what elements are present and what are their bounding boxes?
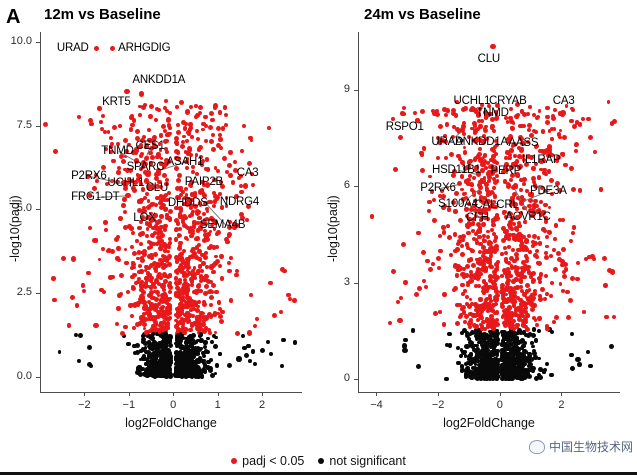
data-point-significant: [191, 232, 195, 236]
data-point-significant: [545, 292, 549, 296]
data-point-significant: [101, 114, 105, 118]
data-point-significant: [119, 273, 124, 278]
data-point-not-significant: [511, 350, 515, 354]
data-point-significant: [210, 118, 214, 122]
data-point-significant: [142, 312, 146, 316]
data-point-significant: [417, 286, 422, 291]
data-point-significant: [551, 116, 556, 121]
data-point-significant: [229, 256, 233, 260]
data-point-significant: [267, 126, 272, 131]
data-point-significant: [136, 257, 140, 261]
gene-label: IL1RAP: [522, 154, 560, 166]
data-point-significant: [255, 317, 259, 321]
data-point-significant: [218, 137, 223, 142]
data-point-significant: [182, 288, 186, 292]
data-point-significant: [193, 266, 197, 270]
data-point-significant: [142, 322, 147, 327]
data-point-significant: [535, 249, 539, 253]
data-point-labeled: [139, 91, 144, 96]
gene-label: PAIP2B: [185, 176, 223, 188]
data-point-labeled: [560, 110, 565, 115]
data-point-significant: [146, 271, 150, 275]
data-point-not-significant: [507, 331, 512, 336]
data-point-not-significant: [542, 371, 546, 375]
data-point-significant: [240, 149, 244, 153]
data-point-not-significant: [78, 333, 83, 338]
data-point-significant: [165, 213, 169, 217]
data-point-significant: [494, 152, 499, 157]
data-point-significant: [476, 318, 480, 322]
data-point-not-significant: [459, 354, 463, 358]
data-point-significant: [185, 139, 190, 144]
data-point-significant: [141, 290, 146, 295]
data-point-significant: [211, 133, 215, 137]
data-point-significant: [572, 225, 576, 229]
data-point-significant: [138, 113, 142, 117]
data-point-labeled: [473, 128, 478, 133]
data-point-significant: [81, 283, 85, 287]
data-point-significant: [397, 318, 402, 323]
data-point-significant: [538, 109, 542, 113]
data-point-not-significant: [269, 352, 273, 356]
data-point-significant: [442, 230, 447, 235]
data-point-significant: [213, 103, 218, 108]
data-point-not-significant: [491, 377, 495, 381]
data-point-significant: [120, 331, 125, 336]
data-point-significant: [455, 321, 460, 326]
data-point-significant: [446, 224, 450, 228]
data-point-labeled: [243, 183, 248, 188]
y-tick-label: 7.5: [0, 119, 32, 131]
data-point-significant: [103, 220, 108, 225]
data-point-significant: [154, 176, 159, 181]
data-point-not-significant: [485, 357, 489, 361]
data-point-significant: [438, 234, 442, 238]
data-point-not-significant: [478, 337, 482, 341]
data-point-significant: [94, 238, 99, 243]
data-point-significant: [388, 321, 392, 325]
data-point-significant: [168, 237, 172, 241]
data-point-significant: [123, 210, 127, 214]
data-point-significant: [221, 126, 225, 130]
data-point-significant: [188, 313, 193, 318]
data-point-significant: [231, 180, 236, 185]
data-point-significant: [458, 157, 462, 161]
data-point-significant: [176, 130, 181, 135]
data-point-significant: [574, 143, 578, 147]
data-point-significant: [562, 135, 567, 140]
data-point-significant: [537, 316, 541, 320]
data-point-significant: [233, 160, 237, 164]
data-point-significant: [458, 266, 462, 270]
data-point-not-significant: [214, 372, 217, 375]
data-point-significant: [141, 105, 146, 110]
data-point-not-significant: [416, 364, 421, 369]
data-point-significant: [474, 324, 479, 329]
data-point-significant: [414, 292, 419, 297]
data-point-significant: [453, 232, 457, 236]
data-point-significant: [122, 197, 127, 202]
data-point-significant: [186, 238, 190, 242]
data-point-significant: [61, 256, 66, 261]
data-point-significant: [104, 228, 108, 232]
data-point-significant: [163, 224, 167, 228]
data-point-not-significant: [575, 357, 580, 362]
data-point-significant: [491, 218, 495, 222]
data-point-significant: [77, 115, 81, 119]
data-point-not-significant: [495, 369, 500, 374]
data-point-significant: [224, 113, 229, 118]
data-point-significant: [493, 322, 497, 326]
data-point-significant: [191, 170, 195, 174]
data-point-significant: [154, 203, 158, 207]
data-point-significant: [132, 251, 137, 256]
data-point-significant: [444, 113, 448, 117]
data-point-labeled: [125, 193, 130, 198]
data-point-significant: [175, 259, 180, 264]
data-point-significant: [118, 124, 122, 128]
data-point-significant: [466, 226, 470, 230]
data-point-significant: [539, 272, 543, 276]
data-point-significant: [223, 105, 228, 110]
x-tick: [376, 392, 377, 396]
data-point-significant: [432, 198, 436, 202]
gene-label: DHDDS: [168, 197, 208, 209]
x-tick: [173, 392, 174, 396]
data-point-not-significant: [402, 348, 407, 353]
data-point-significant: [520, 289, 524, 293]
gene-label: LOX: [133, 212, 155, 224]
y-tick-label: 10.0: [0, 35, 32, 47]
data-point-not-significant: [490, 350, 494, 354]
data-point-not-significant: [403, 338, 408, 343]
data-point-not-significant: [462, 328, 467, 333]
data-point-significant: [153, 286, 157, 290]
data-point-significant: [535, 255, 539, 259]
data-point-significant: [544, 251, 548, 255]
data-point-not-significant: [511, 365, 514, 368]
data-point-significant: [515, 115, 519, 119]
data-point-significant: [162, 243, 167, 248]
data-point-not-significant: [280, 364, 284, 368]
x-tick-label: −4: [357, 399, 397, 411]
data-point-significant: [286, 293, 290, 297]
data-point-significant: [553, 267, 558, 272]
gene-label: CA3: [553, 95, 575, 107]
data-point-labeled: [94, 46, 99, 51]
data-point-significant: [512, 259, 517, 264]
data-point-significant: [116, 246, 120, 250]
data-point-significant: [539, 200, 543, 204]
data-point-significant: [607, 100, 611, 104]
data-point-not-significant: [189, 334, 194, 339]
data-point-significant: [148, 204, 152, 208]
data-point-significant: [194, 322, 199, 327]
x-tick: [500, 392, 501, 396]
data-point-significant: [526, 297, 531, 302]
data-point-not-significant: [516, 362, 520, 366]
x-axis-line: [358, 392, 620, 393]
data-point-significant: [521, 276, 525, 280]
data-point-significant: [549, 178, 554, 183]
data-point-not-significant: [538, 375, 543, 380]
data-point-significant: [130, 314, 134, 318]
data-point-significant: [134, 281, 138, 285]
data-point-significant: [157, 282, 161, 286]
data-point-significant: [201, 128, 205, 132]
data-point-not-significant: [260, 348, 265, 353]
data-point-not-significant: [140, 350, 144, 354]
y-tick-label: 9: [310, 83, 350, 95]
data-point-significant: [420, 109, 425, 114]
data-point-significant: [460, 188, 464, 192]
data-point-not-significant: [549, 373, 554, 378]
data-point-not-significant: [203, 340, 207, 344]
chart-volcano-12m: 12m vs Baseline 0.02.55.07.510.0−2−1012l…: [0, 0, 320, 475]
data-point-significant: [543, 229, 547, 233]
data-point-significant: [110, 249, 115, 254]
data-point-significant: [488, 294, 492, 298]
data-point-significant: [206, 210, 210, 214]
data-point-significant: [463, 150, 467, 154]
data-point-significant: [582, 310, 586, 314]
data-point-significant: [486, 230, 490, 234]
gene-label: PDE3A: [530, 185, 567, 197]
data-point-significant: [112, 125, 117, 130]
data-point-significant: [547, 230, 552, 235]
data-point-not-significant: [503, 371, 508, 376]
data-point-significant: [206, 167, 210, 171]
gene-label: SPARC: [127, 161, 165, 173]
data-point-significant: [168, 273, 173, 278]
data-point-significant: [507, 234, 511, 238]
data-point-significant: [70, 295, 75, 300]
data-point-significant: [492, 186, 496, 190]
data-point-significant: [482, 234, 486, 238]
x-tick-label: −1: [109, 399, 149, 411]
data-point-significant: [150, 296, 154, 300]
y-axis-line: [358, 32, 359, 392]
data-point-significant: [489, 314, 494, 319]
data-point-significant: [493, 194, 497, 198]
data-point-significant: [155, 107, 159, 111]
data-point-significant: [474, 304, 478, 308]
data-point-significant: [518, 278, 523, 283]
data-point-significant: [545, 245, 549, 249]
legend-label-not-significant: not significant: [329, 454, 405, 468]
data-point-significant: [528, 105, 532, 109]
data-point-not-significant: [196, 370, 201, 375]
gene-label: UCHL1: [454, 95, 491, 107]
watermark-text: 中国生物技术网: [549, 438, 633, 455]
data-point-significant: [216, 126, 221, 131]
data-point-significant: [198, 145, 203, 150]
data-point-not-significant: [500, 376, 505, 381]
data-point-significant: [228, 173, 233, 178]
data-point-significant: [535, 323, 539, 327]
y-tick-label: 0: [310, 372, 350, 384]
data-point-significant: [119, 292, 123, 296]
data-point-significant: [180, 317, 184, 321]
data-point-not-significant: [469, 352, 474, 357]
y-tick: [36, 293, 40, 294]
data-point-significant: [282, 269, 287, 274]
x-tick-label: 1: [198, 399, 238, 411]
data-point-significant: [478, 125, 482, 129]
data-point-significant: [422, 146, 427, 151]
data-point-significant: [149, 104, 154, 109]
data-point-significant: [438, 124, 443, 129]
data-point-not-significant: [204, 349, 208, 353]
data-point-significant: [549, 254, 553, 258]
data-point-not-significant: [534, 338, 538, 342]
data-point-significant: [138, 232, 143, 237]
data-point-significant: [219, 254, 224, 259]
data-point-significant: [130, 123, 134, 127]
data-point-significant: [194, 237, 198, 241]
data-point-significant: [157, 312, 161, 316]
gene-label: CES1: [135, 140, 164, 152]
x-tick: [84, 392, 85, 396]
data-point-significant: [197, 300, 201, 304]
data-point-significant: [538, 241, 542, 245]
data-point-significant: [549, 294, 553, 298]
data-point-significant: [123, 325, 128, 330]
data-point-significant: [578, 188, 582, 192]
data-point-not-significant: [465, 333, 470, 338]
data-point-significant: [478, 297, 482, 301]
data-point-significant: [447, 235, 452, 240]
x-tick-label: 0: [153, 399, 193, 411]
data-point-significant: [545, 106, 549, 110]
data-point-significant: [413, 111, 417, 115]
data-point-not-significant: [507, 377, 511, 381]
data-point-significant: [176, 310, 180, 314]
data-point-significant: [204, 315, 209, 320]
y-tick-label: 0.0: [0, 370, 32, 382]
data-point-significant: [563, 163, 568, 168]
data-point-significant: [186, 130, 191, 135]
gene-label: CA3: [237, 167, 259, 179]
data-point-significant: [188, 328, 193, 333]
data-point-significant: [118, 216, 123, 221]
data-point-significant: [509, 107, 513, 111]
x-tick: [262, 392, 263, 396]
data-point-significant: [279, 310, 283, 314]
gene-label: P2RX6: [71, 170, 106, 182]
data-point-significant: [176, 221, 180, 225]
data-point-significant: [457, 239, 462, 244]
data-point-significant: [247, 161, 252, 166]
data-point-significant: [522, 124, 526, 128]
x-tick-label: −2: [418, 399, 458, 411]
data-point-significant: [205, 237, 210, 242]
gene-label: TNMD: [476, 107, 508, 119]
data-point-not-significant: [493, 344, 497, 348]
data-point-significant: [557, 132, 561, 136]
data-point-significant: [116, 170, 120, 174]
data-point-significant: [554, 223, 559, 228]
gene-label: PERP: [491, 165, 522, 177]
data-point-significant: [510, 126, 515, 131]
data-point-not-significant: [570, 366, 575, 371]
data-point-significant: [167, 326, 171, 330]
data-point-significant: [401, 242, 406, 247]
data-point-significant: [534, 318, 538, 322]
data-point-significant: [131, 285, 135, 289]
data-point-significant: [527, 234, 531, 238]
data-point-significant: [147, 246, 151, 250]
data-point-significant: [178, 266, 183, 271]
data-point-significant: [442, 292, 447, 297]
data-point-significant: [215, 232, 219, 236]
data-point-significant: [204, 139, 208, 143]
data-point-significant: [534, 130, 538, 134]
data-point-significant: [470, 249, 475, 254]
data-point-not-significant: [506, 347, 510, 351]
data-point-significant: [196, 271, 200, 275]
data-point-significant: [561, 218, 565, 222]
data-point-significant: [472, 176, 476, 180]
data-point-significant: [179, 234, 183, 238]
data-point-significant: [212, 204, 216, 208]
gene-label: RSPO1: [386, 121, 424, 133]
data-point-significant: [493, 180, 498, 185]
data-point-significant: [449, 253, 453, 257]
data-point-not-significant: [244, 353, 249, 358]
data-point-not-significant: [174, 362, 178, 366]
data-point-not-significant: [203, 345, 207, 349]
data-point-significant: [219, 319, 224, 324]
data-point-significant: [472, 237, 476, 241]
data-point-significant: [540, 287, 545, 292]
data-point-significant: [548, 129, 552, 133]
data-point-significant: [420, 153, 424, 157]
data-point-significant: [500, 252, 504, 256]
data-point-significant: [400, 111, 405, 116]
data-point-significant: [149, 306, 154, 311]
data-point-significant: [545, 115, 549, 119]
data-point-significant: [424, 285, 428, 289]
data-point-significant: [391, 269, 396, 274]
data-point-significant: [513, 299, 517, 303]
data-point-significant: [420, 168, 425, 173]
data-point-significant: [610, 121, 614, 125]
data-point-significant: [432, 218, 437, 223]
data-point-significant: [180, 258, 185, 263]
data-point-significant: [483, 128, 488, 133]
data-point-significant: [548, 206, 552, 210]
data-point-significant: [462, 274, 466, 278]
data-point-significant: [214, 290, 219, 295]
data-point-significant: [544, 173, 548, 177]
data-point-not-significant: [136, 366, 141, 371]
data-point-significant: [115, 256, 120, 261]
data-point-not-significant: [471, 345, 475, 349]
data-point-labeled: [198, 189, 203, 194]
data-point-not-significant: [248, 359, 252, 363]
data-point-significant: [179, 297, 183, 301]
data-point-significant: [199, 289, 203, 293]
y-tick: [36, 126, 40, 127]
data-point-significant: [489, 254, 493, 258]
data-point-not-significant: [89, 364, 93, 368]
data-point-significant: [509, 286, 513, 290]
data-point-significant: [531, 166, 536, 171]
data-point-significant: [575, 277, 580, 282]
data-point-significant: [570, 276, 575, 281]
data-point-not-significant: [479, 377, 483, 381]
